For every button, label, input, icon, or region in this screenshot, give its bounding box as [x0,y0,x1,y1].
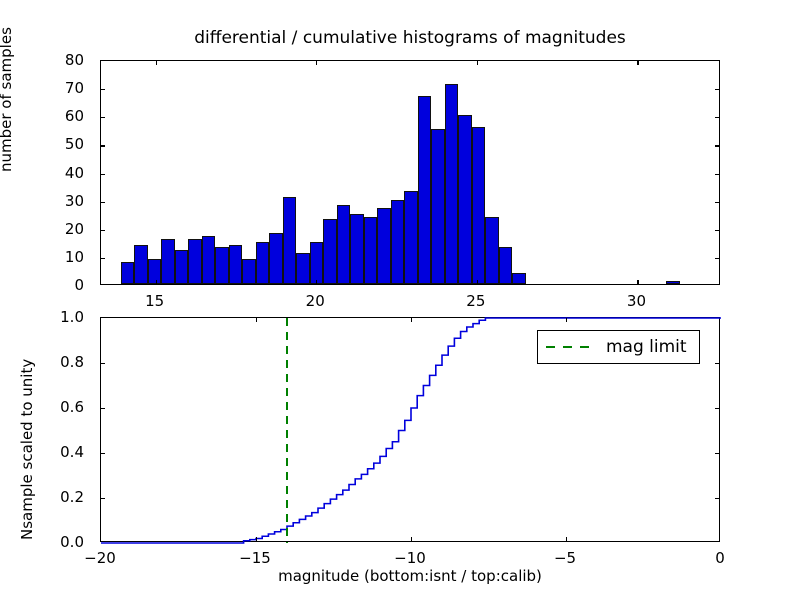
y-tick-mark [101,363,105,364]
x-tick-label: 15 [145,292,164,310]
histogram-bar [472,127,485,285]
histogram-bar [499,247,512,284]
histogram-bar [215,247,228,284]
y-tick-label: 0.6 [0,398,92,416]
chart-title: differential / cumulative histograms of … [100,28,720,48]
y-tick-mark [715,363,719,364]
x-tick-mark [411,318,412,322]
x-tick-mark [566,318,567,322]
y-tick-label: 40 [0,164,92,182]
x-tick-mark [156,280,157,284]
histogram-bar [161,239,174,284]
y-tick-mark [101,230,105,231]
y-tick-mark [715,145,719,146]
y-tick-mark [101,117,105,118]
histogram-bar [391,200,404,284]
figure-canvas: differential / cumulative histograms of … [0,0,800,600]
y-tick-label: 0.0 [0,533,92,551]
x-tick-label: −10 [394,549,426,567]
y-tick-label: 10 [0,248,92,266]
x-tick-mark [566,537,567,541]
x-tick-mark [316,280,317,284]
histogram-bar [337,205,350,284]
y-tick-mark [101,89,105,90]
y-tick-mark [101,453,105,454]
y-tick-label: 0.8 [0,353,92,371]
x-tick-mark [156,61,157,65]
histogram-bar [296,253,309,284]
y-tick-label: 20 [0,220,92,238]
histogram-bar [188,239,201,284]
y-tick-label: 50 [0,135,92,153]
x-tick-mark [316,61,317,65]
histogram-bar [364,217,377,285]
y-tick-label: 30 [0,192,92,210]
x-tick-label: 0 [715,549,725,567]
y-tick-mark [715,174,719,175]
histogram-bar [310,242,323,284]
y-tick-label: 60 [0,107,92,125]
x-tick-mark [256,537,257,541]
x-tick-label: −5 [554,549,576,567]
histogram-bar [202,236,215,284]
histogram-bar [458,115,471,284]
y-tick-label: 1.0 [0,308,92,326]
histogram-bar [175,250,188,284]
x-tick-mark [477,61,478,65]
y-tick-mark [715,89,719,90]
y-tick-label: 80 [0,51,92,69]
histogram-bar [134,245,147,284]
x-tick-label: −15 [239,549,271,567]
y-tick-mark [715,498,719,499]
y-tick-label: 70 [0,79,92,97]
histogram-bar [323,219,336,284]
y-tick-label: 0 [0,276,92,294]
x-tick-label: −20 [84,549,116,567]
y-tick-label: 0.4 [0,443,92,461]
histogram-bar [121,262,134,285]
y-tick-label: 0.2 [0,488,92,506]
histogram-bar [485,217,498,285]
histogram-bar [283,197,296,284]
y-tick-mark [101,258,105,259]
y-tick-mark [715,408,719,409]
x-tick-mark [637,61,638,65]
x-tick-label: 20 [306,292,325,310]
x-tick-label: 30 [627,292,646,310]
histogram-bar [418,96,431,284]
x-tick-mark [411,537,412,541]
legend-box: mag limit [537,330,700,364]
histogram-bar [512,273,525,284]
histogram-bar [404,191,417,284]
y-tick-mark [715,117,719,118]
y-tick-mark [715,230,719,231]
histogram-bar [256,242,269,284]
x-tick-mark [477,280,478,284]
x-axis-label: magnitude (bottom:isnt / top:calib) [100,567,720,585]
y-tick-mark [715,258,719,259]
y-tick-mark [101,174,105,175]
y-tick-mark [101,498,105,499]
histogram-bar [350,214,363,284]
mag-limit-line-icon [546,346,590,348]
legend-label-mag-limit: mag limit [606,337,687,357]
histogram-bar [666,281,679,284]
y-tick-mark [101,145,105,146]
histogram-bar [431,129,444,284]
x-tick-mark [637,280,638,284]
histogram-bar [269,233,282,284]
y-tick-mark [101,202,105,203]
histogram-bar [445,84,458,284]
x-tick-label: 25 [466,292,485,310]
x-tick-mark [256,318,257,322]
histogram-bar [242,259,255,284]
y-tick-mark [715,453,719,454]
histogram-bar [377,208,390,284]
top-histogram-axes [100,60,720,285]
y-tick-mark [101,408,105,409]
y-tick-mark [715,202,719,203]
histogram-bar [229,245,242,284]
